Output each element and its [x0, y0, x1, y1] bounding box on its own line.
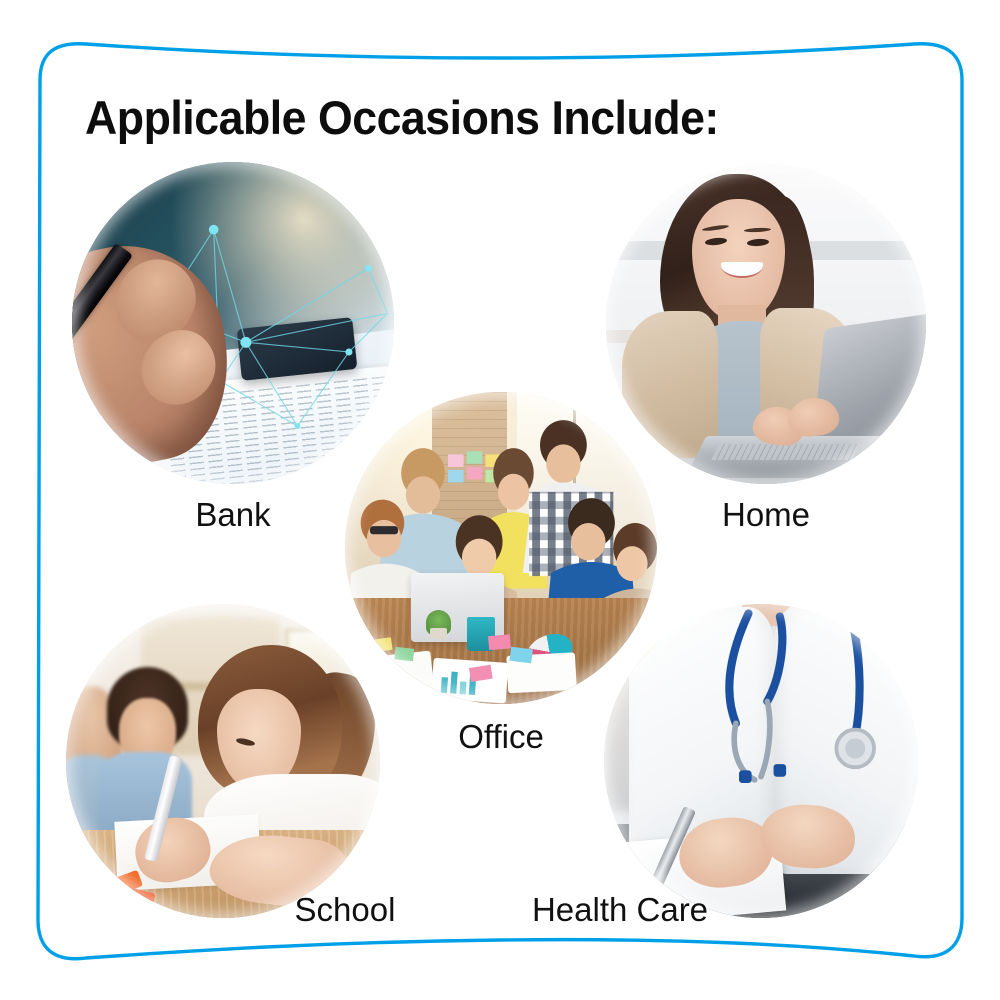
occasion-health-care-label: Health Care — [470, 893, 770, 926]
occasion-school — [66, 604, 380, 918]
school-photo-circle — [66, 604, 380, 918]
occasion-school-label: School — [205, 893, 485, 926]
school-photo — [66, 604, 380, 918]
infographic-page: Applicable Occasions Include: — [0, 0, 1000, 1000]
occasion-health-care — [604, 604, 918, 918]
page-title: Applicable Occasions Include: — [85, 93, 719, 142]
health-care-photo-circle — [604, 604, 918, 918]
health-care-photo — [604, 604, 918, 918]
